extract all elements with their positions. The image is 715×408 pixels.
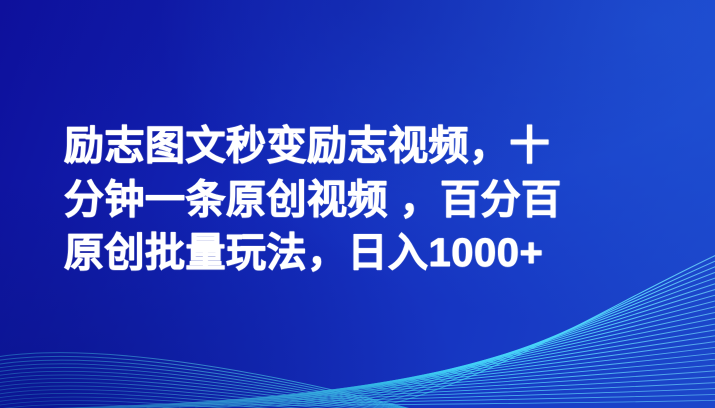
promo-banner: 励志图文秒变励志视频，十 分钟一条原创视频 ，百分百 原创批量玩法，日入1000… <box>0 0 715 408</box>
headline-line-3: 原创批量玩法，日入1000+ <box>64 230 543 276</box>
headline-line-2: 分钟一条原创视频 ，百分百 <box>64 177 562 230</box>
headline-line-1: 励志图文秒变励志视频，十 <box>64 123 550 176</box>
headline-block: 励志图文秒变励志视频，十 分钟一条原创视频 ，百分百 原创批量玩法，日入1000… <box>0 0 715 408</box>
